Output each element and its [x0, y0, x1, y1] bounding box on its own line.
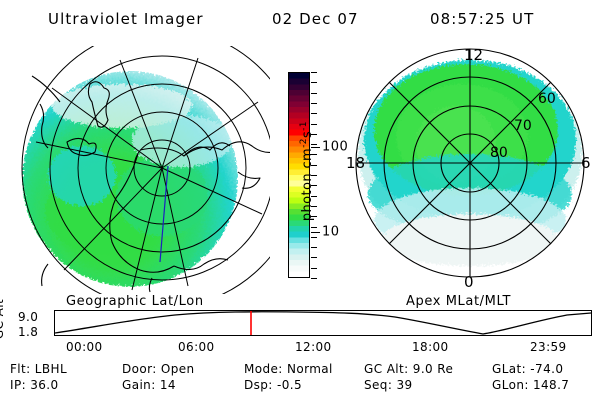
colorbar-minor-tick: [311, 72, 317, 73]
status-ip: IP: 36.0: [10, 378, 59, 392]
cbar-unit-main: photon cm: [300, 148, 315, 221]
mlt-spokes: [356, 49, 584, 277]
mlat-label-60: 60: [538, 91, 556, 107]
mlat-label-70: 70: [514, 118, 532, 134]
status-door: Door: Open: [122, 362, 195, 376]
gcalt-tick-high: 9.0: [18, 310, 38, 324]
status-glon: GLon: 148.7: [492, 378, 569, 392]
mlt-label-6: 6: [581, 154, 591, 172]
gcalt-axis-label: GC Alt: [0, 298, 6, 340]
gcalt-tick-low: 1.8: [18, 325, 38, 339]
colorbar-tick-label: 10: [322, 224, 340, 239]
observation-time: 08:57:25 UT: [430, 10, 534, 28]
cbar-unit-exp2: -1: [299, 121, 309, 131]
orbit-altitude-panel[interactable]: [54, 310, 592, 336]
status-mode: Mode: Normal: [244, 362, 333, 376]
time-tick-label: 23:59: [530, 340, 567, 354]
colorbar-minor-tick: [311, 82, 317, 83]
apex-plot-canvas: 12 18 6 0 60 70 80: [344, 44, 596, 294]
status-glat: GLat: -74.0: [492, 362, 563, 376]
time-tick-label: 00:00: [66, 340, 103, 354]
mlt-label-0: 0: [464, 273, 474, 291]
right-plot-subtitle: Apex MLat/MLT: [406, 294, 511, 309]
left-plot-subtitle: Geographic Lat/Lon: [66, 294, 204, 309]
observation-date: 02 Dec 07: [272, 10, 359, 28]
status-seq: Seq: 39: [364, 378, 413, 392]
mlt-label-18: 18: [346, 154, 365, 172]
colorbar-axis-label: photon cm-2s-1: [299, 86, 315, 256]
geographic-polar-plot[interactable]: [12, 46, 270, 294]
colorbar-minor-tick: [311, 268, 317, 269]
geographic-plot-canvas: [12, 46, 270, 294]
colorbar-minor-tick: [311, 278, 317, 279]
apex-polar-plot[interactable]: 12 18 6 0 60 70 80: [344, 44, 596, 294]
auroral-emission-data: [22, 71, 238, 287]
instrument-title: Ultraviolet Imager: [48, 10, 204, 28]
status-gain: Gain: 14: [122, 378, 176, 392]
time-tick-label: 12:00: [295, 340, 332, 354]
status-gcalt: GC Alt: 9.0 Re: [364, 362, 453, 376]
cbar-unit-exp1: -2: [299, 138, 309, 148]
status-dsp: Dsp: -0.5: [244, 378, 302, 392]
mlt-label-12: 12: [464, 46, 483, 64]
colorbar-minor-tick: [311, 257, 317, 258]
time-tick-label: 06:00: [178, 340, 215, 354]
orbit-altitude-curve: [55, 311, 591, 335]
cbar-unit-mid: s: [300, 131, 315, 138]
status-block: Flt: LBHL IP: 36.0 Door: Open Gain: 14 M…: [0, 362, 600, 398]
mlat-label-80: 80: [490, 145, 508, 161]
time-tick-label: 18:00: [412, 340, 449, 354]
header-bar: Ultraviolet Imager 02 Dec 07 08:57:25 UT: [0, 8, 600, 32]
status-flt: Flt: LBHL: [10, 362, 67, 376]
